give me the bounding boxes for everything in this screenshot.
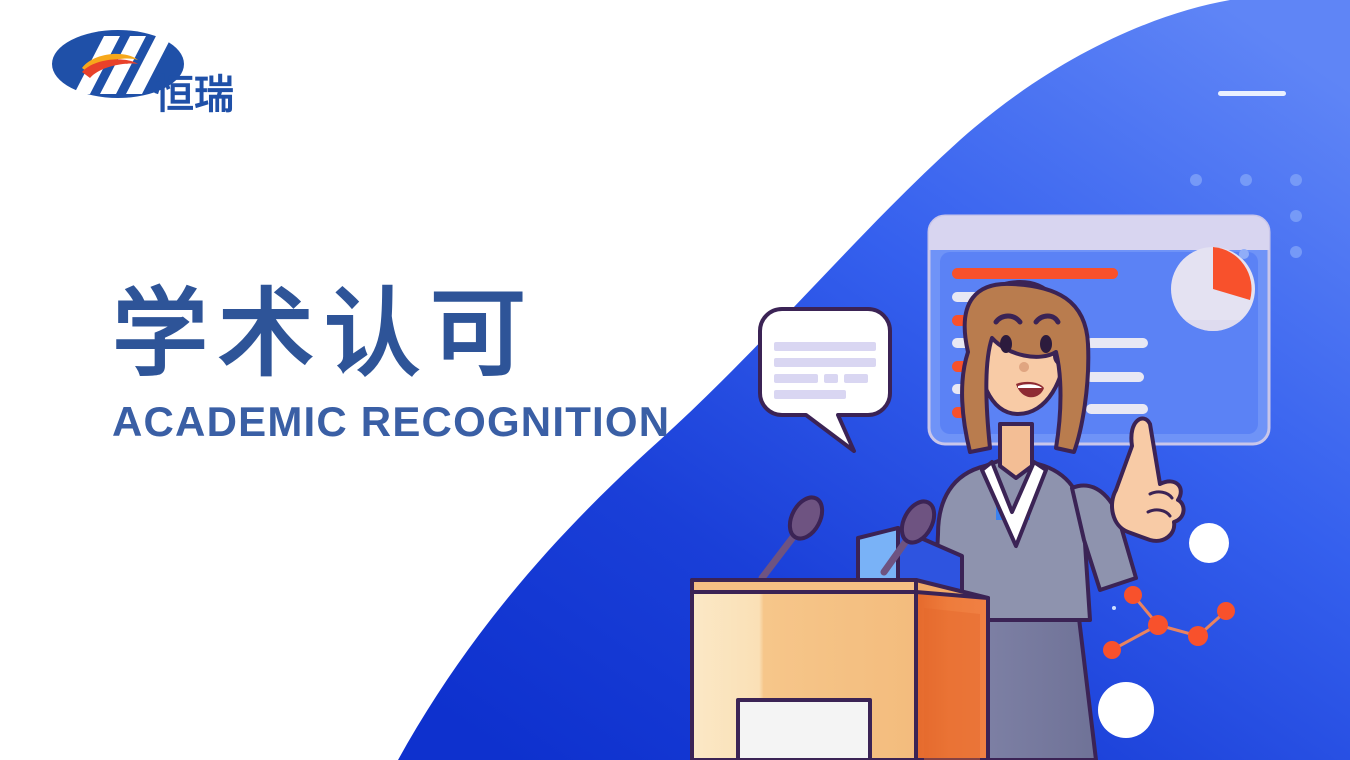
slide-canvas: 恒瑞 学术认可 ACADEMIC RECOGNITION — [0, 0, 1350, 760]
headline-block: 学术认可 ACADEMIC RECOGNITION — [112, 286, 632, 446]
page-title-cn: 学术认可 — [112, 286, 632, 384]
logo-brand-characters: 恒瑞 — [150, 50, 234, 117]
page-subtitle-en: ACADEMIC RECOGNITION — [112, 398, 632, 446]
brand-logo[interactable]: 恒瑞 — [46, 22, 236, 117]
logo-brand-text: 恒瑞 — [154, 72, 234, 117]
